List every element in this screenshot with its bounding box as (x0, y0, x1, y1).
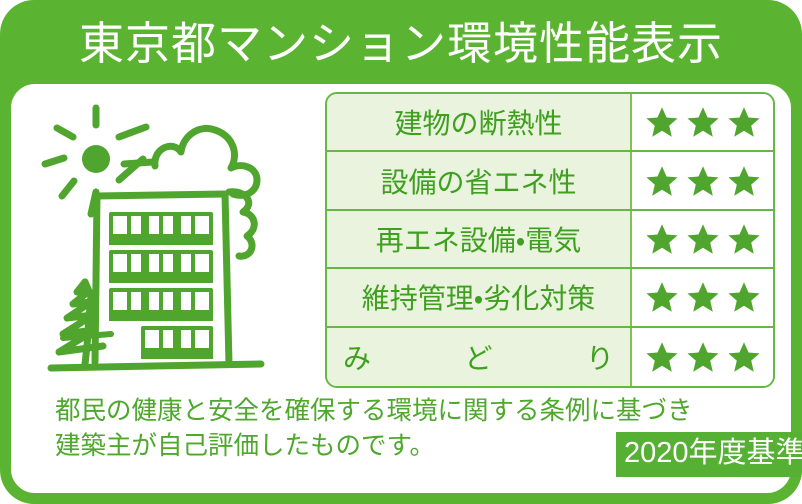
rating-label-maintenance: 維持管理・劣化対策 (327, 269, 632, 325)
disclaimer-text: 都民の健康と安全を確保する環境に関する条例に基づき 建築主が自己評価したものです… (55, 394, 693, 464)
star-icon (727, 164, 761, 198)
table-row: 設備の省エネ性 (327, 152, 773, 210)
star-icon (645, 280, 679, 314)
table-row: み ど り (327, 328, 773, 386)
environmental-performance-label: 東京都マンション環境性能表示 (0, 0, 802, 504)
disclaimer-line-2: 建築主が自己評価したものです。 (55, 429, 693, 464)
rating-table: 建物の断熱性 設備の省エネ性 再エネ設備・電気 (325, 92, 775, 388)
star-icon (686, 105, 720, 139)
star-icon (727, 280, 761, 314)
table-row: 維持管理・劣化対策 (327, 269, 773, 327)
windows-with-balconies (109, 214, 213, 359)
rating-label-greenery: み ど り (327, 328, 632, 386)
rating-stars-maintenance (632, 269, 773, 325)
inner-card: 建物の断熱性 設備の省エネ性 再エネ設備・電気 (9, 82, 793, 495)
star-icon (645, 105, 679, 139)
star-icon (645, 340, 679, 374)
rating-label-energy-saving: 設備の省エネ性 (327, 152, 632, 208)
star-icon (645, 222, 679, 256)
apartment-building-eco-illustration (33, 96, 323, 396)
rating-label-greenery-char-2: ど (464, 337, 492, 377)
star-icon (727, 340, 761, 374)
disclaimer-line-1: 都民の健康と安全を確保する環境に関する条例に基づき (55, 394, 693, 429)
star-icon (727, 222, 761, 256)
star-icon (686, 164, 720, 198)
rating-label-greenery-char-1: み (343, 337, 371, 377)
rating-label-insulation: 建物の断熱性 (327, 94, 632, 150)
rating-stars-insulation (632, 94, 773, 150)
table-row: 再エネ設備・電気 (327, 211, 773, 269)
rating-label-greenery-char-3: り (586, 337, 614, 377)
page-title: 東京都マンション環境性能表示 (79, 21, 723, 66)
star-icon (645, 164, 679, 198)
rating-stars-renewable-energy (632, 211, 773, 267)
pine-tree-icon (59, 282, 111, 364)
header-band: 東京都マンション環境性能表示 (0, 0, 802, 86)
star-icon (686, 280, 720, 314)
standard-year-badge: 2020年度基準 (616, 432, 802, 477)
footer: 都民の健康と安全を確保する環境に関する条例に基づき 建築主が自己評価したものです… (11, 394, 795, 494)
rating-label-renewable-energy: 再エネ設備・電気 (327, 211, 632, 267)
star-icon (686, 222, 720, 256)
rating-stars-greenery (632, 328, 773, 386)
rating-stars-energy-saving (632, 152, 773, 208)
star-icon (727, 105, 761, 139)
table-row: 建物の断熱性 (327, 94, 773, 152)
star-icon (686, 340, 720, 374)
